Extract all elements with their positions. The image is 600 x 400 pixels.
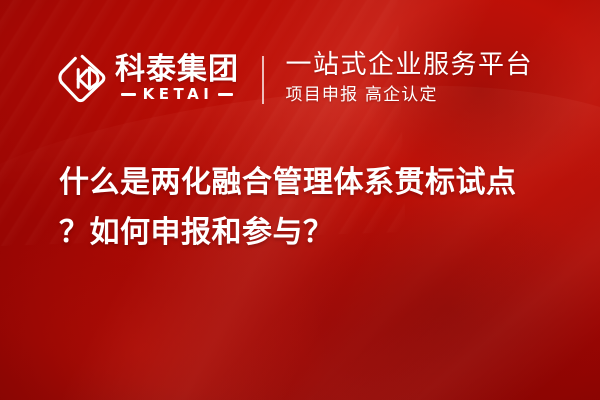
wordmark-dash-left-icon	[121, 93, 136, 96]
tagline-secondary: 项目申报 高企认定	[286, 86, 534, 105]
ketai-diamond-kd-monogram-icon	[58, 53, 106, 103]
promo-banner: 科泰集团 KETAI 一站式企业服务平台 项目申报 高企认定 什么是两化融合管理…	[0, 0, 600, 400]
tagline-primary: 一站式企业服务平台	[286, 51, 534, 80]
brand-name-en: KETAI	[143, 87, 214, 102]
headline-line-2: ？如何申报和参与？	[59, 208, 579, 258]
header-vertical-divider	[262, 56, 264, 104]
brand-name-en-row: KETAI	[115, 87, 239, 102]
wordmark-dash-right-icon	[218, 93, 233, 96]
brand-name-cn: 科泰集团	[115, 54, 239, 85]
banner-headline: 什么是两化融合管理体系贯标试点 ？如何申报和参与？	[59, 158, 579, 258]
brand-logo[interactable]: 科泰集团 KETAI	[58, 53, 239, 103]
brand-tagline: 一站式企业服务平台 项目申报 高企认定	[286, 51, 534, 104]
brand-wordmark: 科泰集团 KETAI	[115, 54, 239, 102]
headline-line-1: 什么是两化融合管理体系贯标试点	[59, 158, 579, 208]
banner-header: 科泰集团 KETAI 一站式企业服务平台 项目申报 高企认定	[0, 36, 600, 120]
